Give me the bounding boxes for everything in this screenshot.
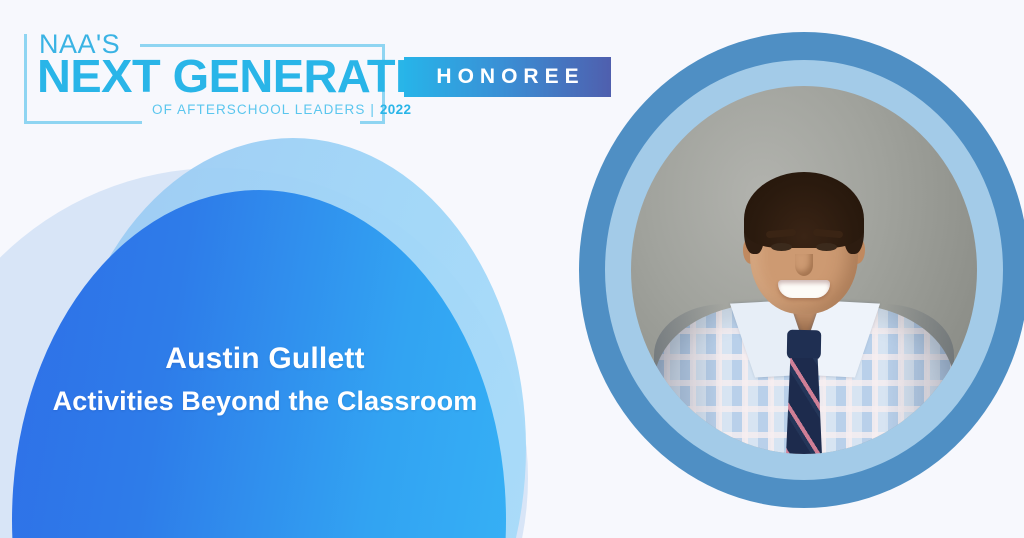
portrait-hair [744,172,864,248]
logo-bracket-bottom-right-rule [360,121,385,124]
portrait-smile [778,280,830,298]
honoree-badge-label: HONOREE [430,65,584,89]
portrait-eye-left [771,243,792,251]
portrait-eye-right [816,243,837,251]
logo-top-rule [140,44,385,47]
portrait-nose [795,254,813,276]
logo-subtitle-year: 2022 [380,102,412,117]
logo-bracket-bottom-left-rule [24,121,142,124]
honoree-graphic-canvas: NAA'S NEXT GENERATION OF AFTERSCHOOL LEA… [0,0,1024,538]
portrait-alt-text: Headshot of Austin Gullett, smiling man … [631,86,632,87]
portrait-shoulder-shadow-right [884,304,954,454]
honoree-name: Austin Gullett [0,340,530,378]
honoree-organization: Activities Beyond the Classroom [0,384,530,419]
portrait-circle: Headshot of Austin Gullett, smiling man … [579,32,1024,508]
naa-next-generation-logo: NAA'S NEXT GENERATION OF AFTERSCHOOL LEA… [24,30,404,126]
logo-bracket-left-rule [24,34,27,124]
decorative-circle-light [60,138,526,538]
portrait-photo: Headshot of Austin Gullett, smiling man … [631,86,977,454]
logo-subtitle: OF AFTERSCHOOL LEADERS | 2022 [152,102,411,117]
portrait-shoulder-shadow-left [654,304,724,454]
portrait-necktie [785,358,823,454]
honoree-name-block: Austin Gullett Activities Beyond the Cla… [0,340,530,419]
logo-subtitle-prefix: OF AFTERSCHOOL LEADERS | [152,102,380,117]
portrait-tie-knot [787,330,822,361]
